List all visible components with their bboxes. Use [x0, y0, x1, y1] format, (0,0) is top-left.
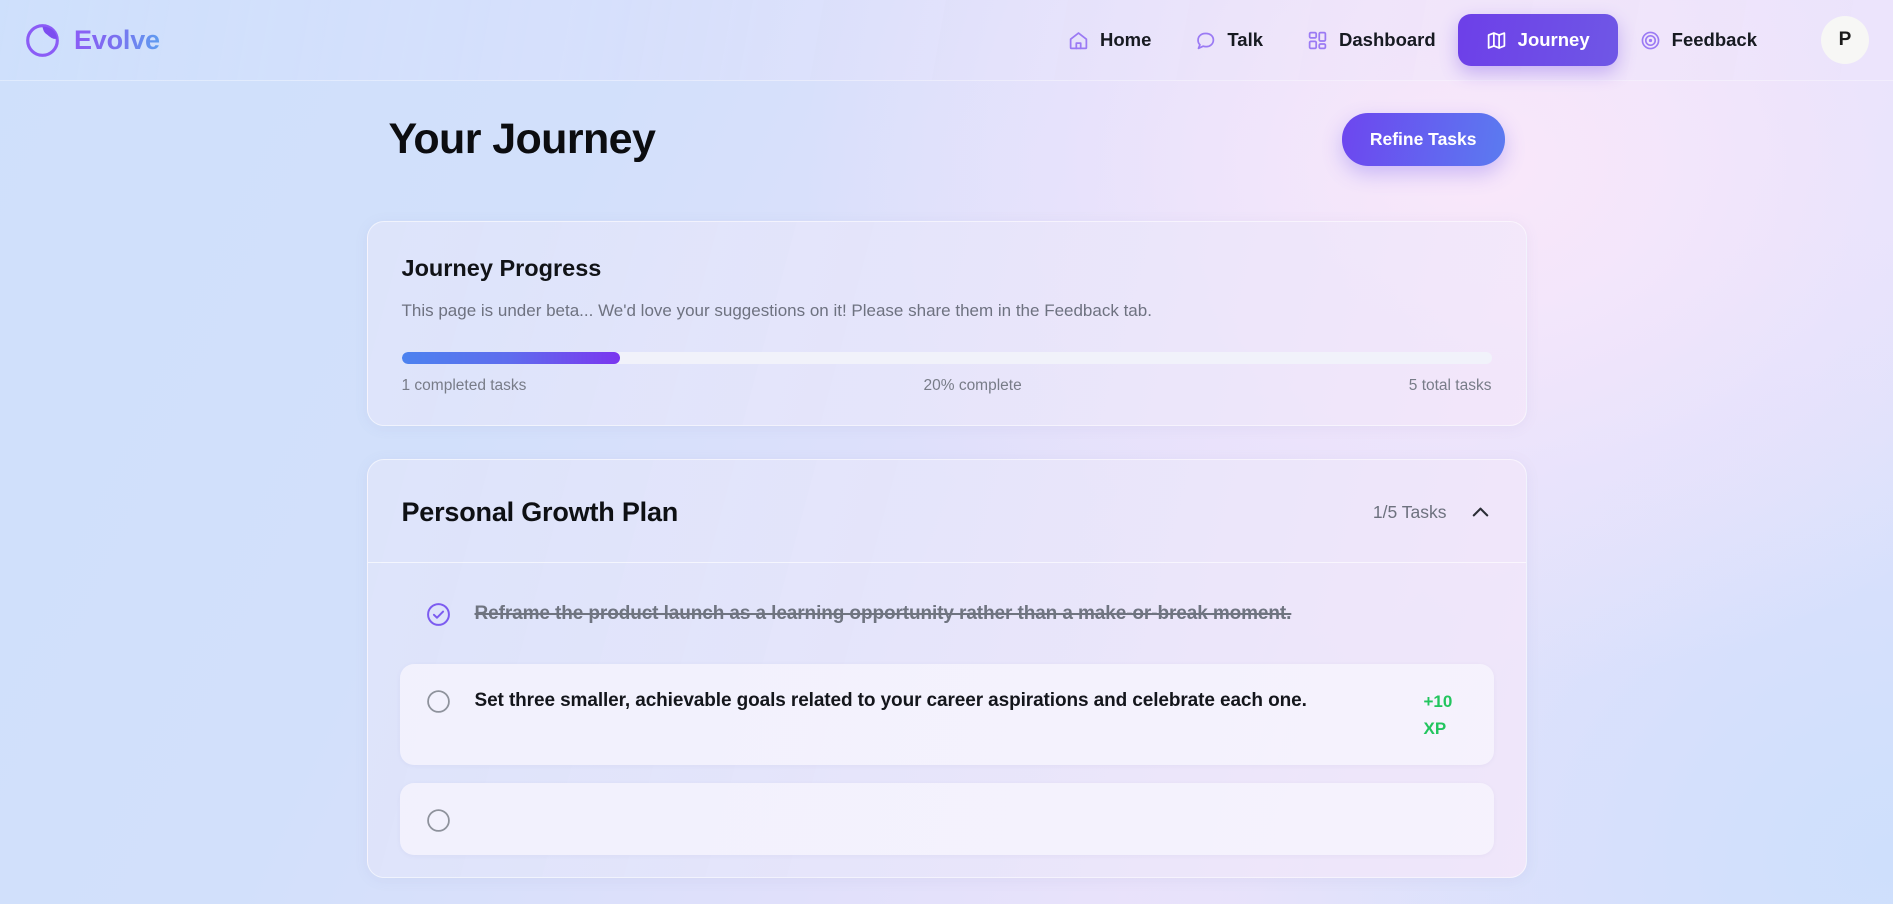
completed-tasks-label: 1 completed tasks: [402, 377, 527, 395]
progress-bar-fill: [402, 352, 620, 364]
plan-title: Personal Growth Plan: [402, 497, 679, 528]
journey-progress-card: Journey Progress This page is under beta…: [367, 221, 1527, 426]
journey-page: Your Journey Refine Tasks Journey Progre…: [0, 81, 1893, 878]
total-tasks-label: 5 total tasks: [1409, 377, 1492, 395]
progress-bar-labels: 1 completed tasks 20% complete 5 total t…: [402, 377, 1492, 395]
nav-links: Home Talk Dashboard: [1046, 14, 1869, 66]
home-icon: [1068, 30, 1089, 51]
task-xp: +10 XP: [1424, 688, 1468, 742]
progress-bar-track: [402, 352, 1492, 364]
check-circle-filled-icon[interactable]: [426, 599, 451, 627]
target-icon: [1640, 30, 1661, 51]
task-row[interactable]: Set three smaller, achievable goals rela…: [400, 664, 1494, 764]
avatar[interactable]: P: [1821, 16, 1869, 64]
grid-dashboard-icon: [1307, 30, 1328, 51]
evolve-circle-logo-icon: [24, 22, 61, 59]
plan-meta: 1/5 Tasks: [1373, 501, 1492, 524]
refine-tasks-button[interactable]: Refine Tasks: [1342, 113, 1505, 166]
nav-label-talk: Talk: [1227, 29, 1263, 51]
percent-complete-label: 20% complete: [923, 377, 1021, 395]
task-text: Set three smaller, achievable goals rela…: [475, 686, 1400, 715]
chat-bubble-icon: [1195, 30, 1216, 51]
journey-progress-title: Journey Progress: [402, 255, 1492, 282]
circle-empty-icon[interactable]: [426, 805, 451, 833]
task-row[interactable]: Reframe the product launch as a learning…: [400, 581, 1494, 646]
nav-label-home: Home: [1100, 29, 1151, 51]
page-header: Your Journey Refine Tasks: [367, 81, 1527, 166]
avatar-initial: P: [1839, 29, 1852, 51]
plan-header[interactable]: Personal Growth Plan 1/5 Tasks: [368, 460, 1526, 563]
brand-name: Evolve: [74, 25, 160, 56]
nav-item-dashboard[interactable]: Dashboard: [1285, 17, 1458, 63]
circle-empty-icon[interactable]: [426, 686, 451, 714]
map-icon: [1486, 30, 1507, 51]
brand-logo[interactable]: Evolve: [24, 22, 160, 59]
journey-progress-subtitle: This page is under beta... We'd love you…: [402, 299, 1492, 323]
nav-label-feedback: Feedback: [1672, 29, 1757, 51]
task-row[interactable]: [400, 783, 1494, 855]
nav-label-journey: Journey: [1518, 29, 1590, 51]
nav-item-feedback[interactable]: Feedback: [1618, 17, 1779, 63]
nav-item-talk[interactable]: Talk: [1173, 17, 1285, 63]
nav-item-journey[interactable]: Journey: [1458, 14, 1618, 66]
page-title: Your Journey: [389, 115, 656, 164]
chevron-up-icon[interactable]: [1469, 501, 1492, 524]
task-list: Reframe the product launch as a learning…: [368, 563, 1526, 855]
personal-growth-plan-card: Personal Growth Plan 1/5 Tasks: [367, 459, 1527, 878]
plan-task-count: 1/5 Tasks: [1373, 502, 1447, 523]
task-text: Reframe the product launch as a learning…: [475, 599, 1400, 628]
nav-item-home[interactable]: Home: [1046, 17, 1173, 63]
top-navigation-bar: Evolve Home Talk: [0, 0, 1893, 81]
nav-label-dashboard: Dashboard: [1339, 29, 1436, 51]
